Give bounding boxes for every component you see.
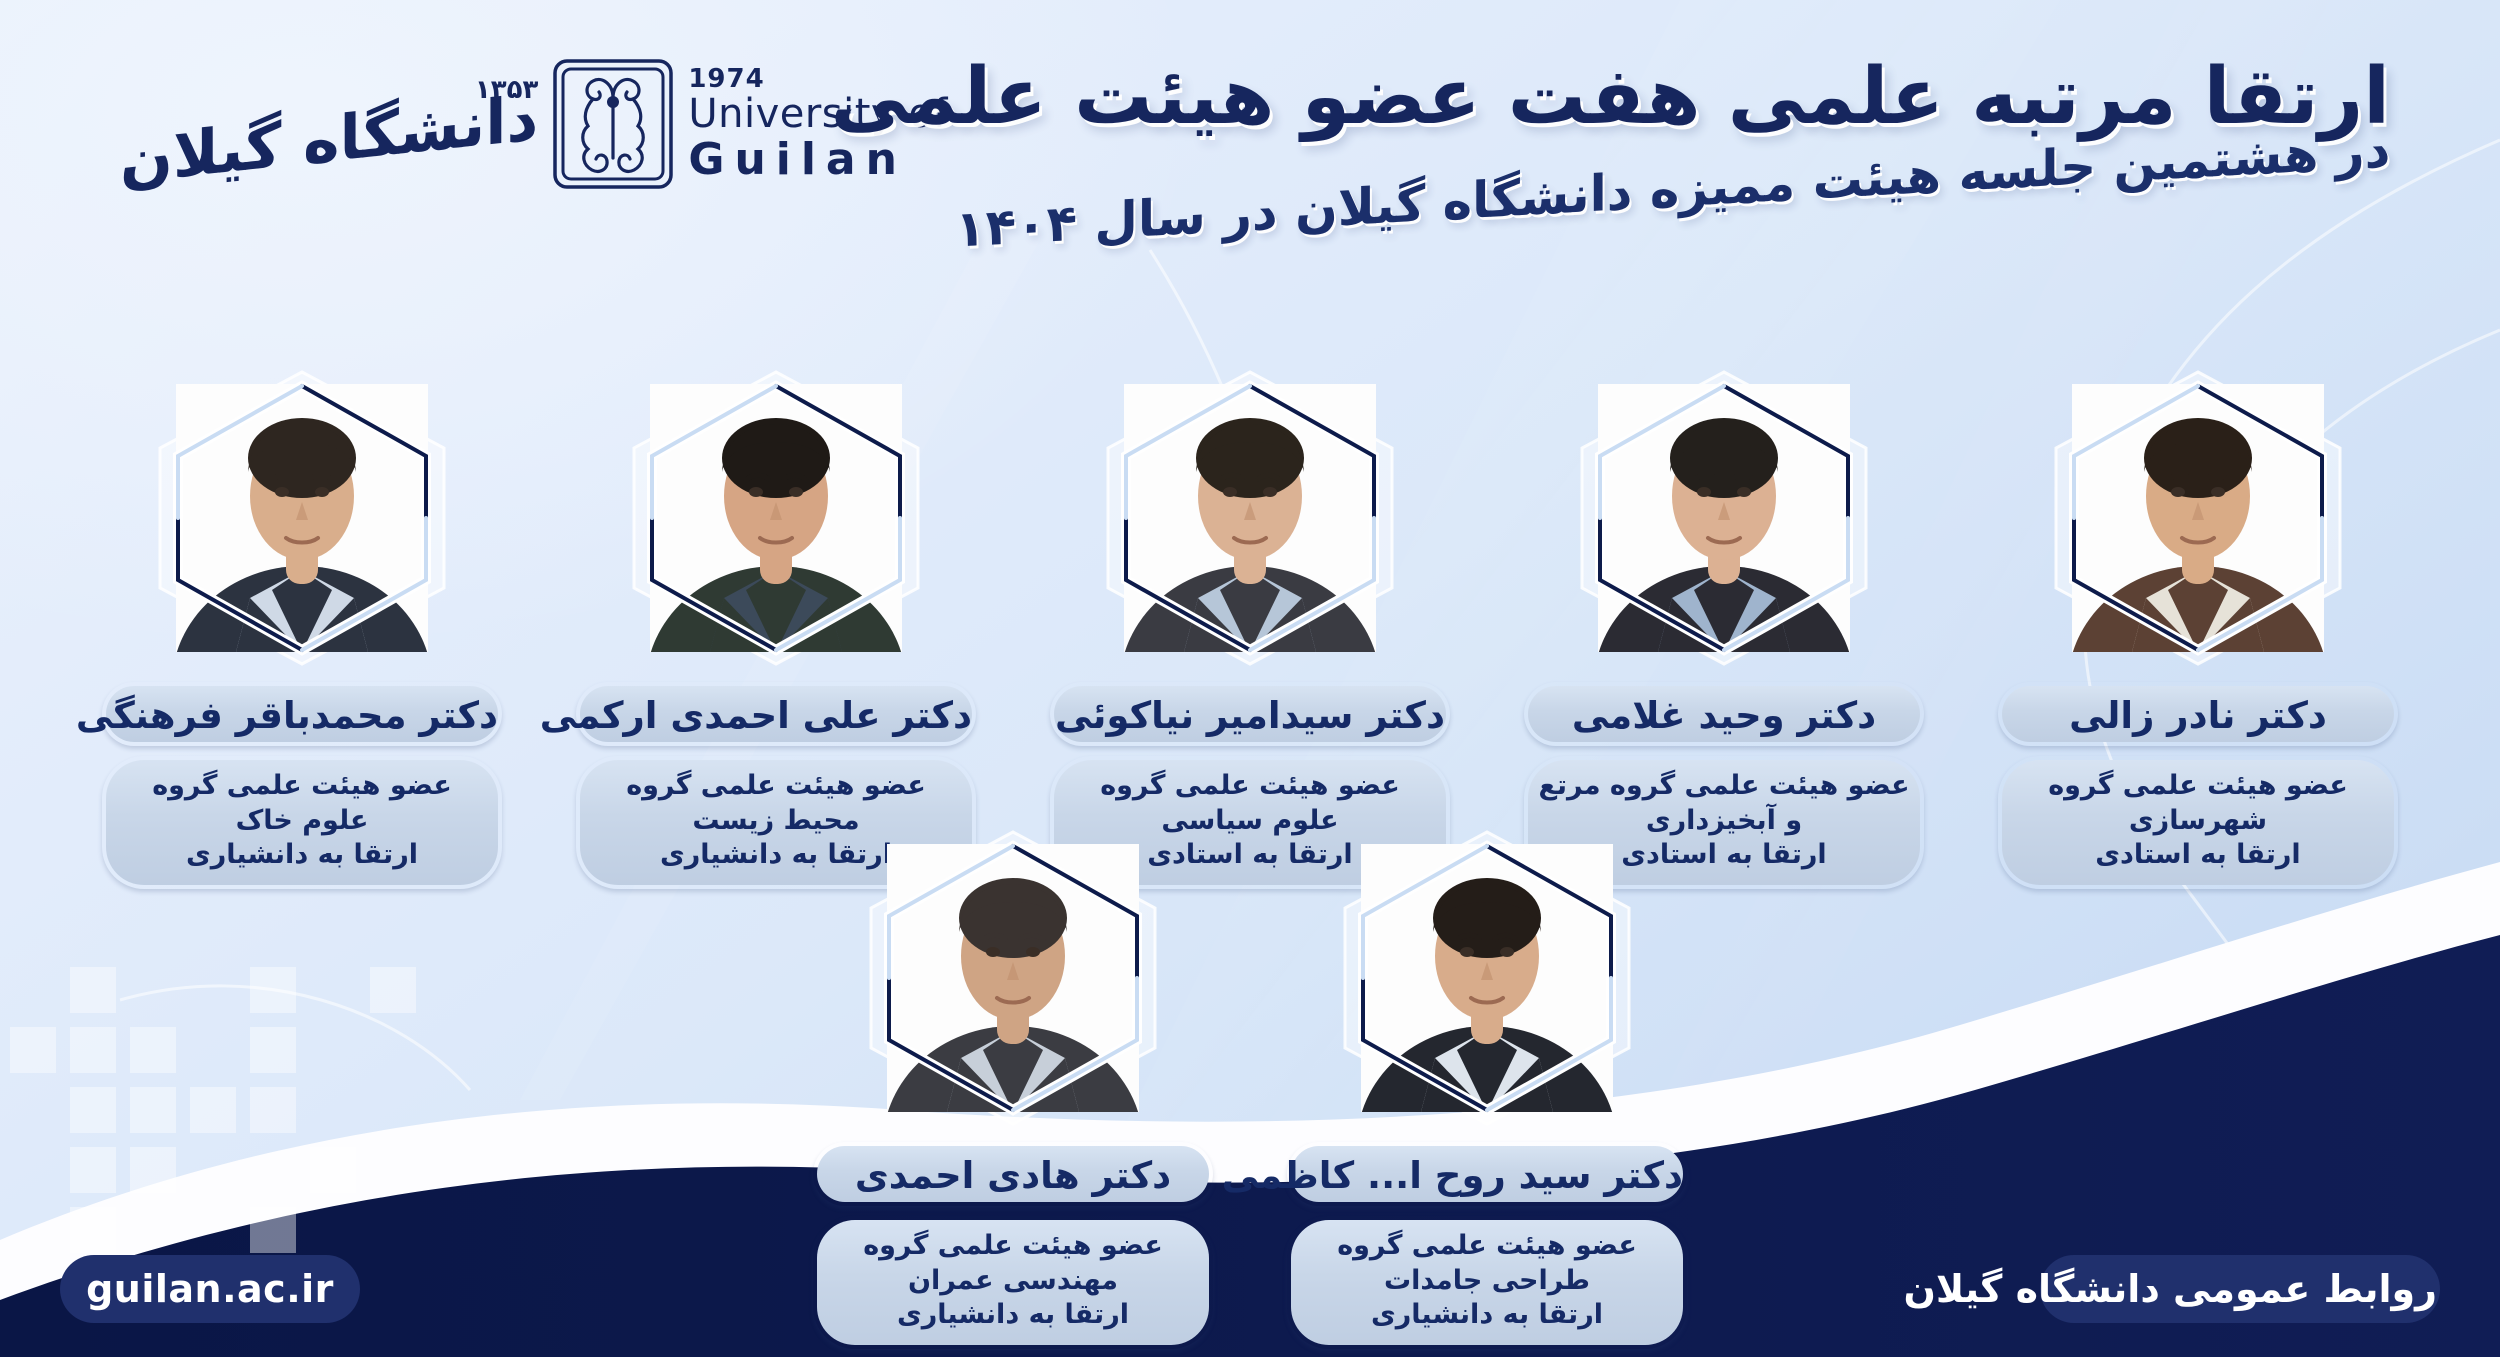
faculty-member-card: دکتر سید روح ا... کاظمی عضو هیئت علمی گر… (1267, 828, 1707, 1349)
faculty-department: عضو هیئت علمی گروه مهندسی عمران (827, 1229, 1199, 1298)
faculty-name-plate: دکتر نادر زالی (1998, 682, 2398, 746)
faculty-member-card: دکتر محمدباقر فرهنگی عضو هیئت علمی گروه … (82, 368, 522, 889)
website-label: guilan.ac.ir (86, 1267, 334, 1311)
faculty-name-plate: دکتر هادی احمدی (813, 1142, 1213, 1206)
portrait-frame (1574, 368, 1874, 668)
faculty-name-plate: دکتر سید روح ا... کاظمی (1287, 1142, 1687, 1206)
faculty-name-plate: دکتر وحید غلامی (1524, 682, 1924, 746)
hexagon-inner-border (1337, 828, 1637, 1128)
portrait-frame (626, 368, 926, 668)
portrait-frame (1337, 828, 1637, 1128)
logo-year-en: 1974 (688, 66, 764, 92)
hexagon-inner-border (626, 368, 926, 668)
hexagon-inner-border (2048, 368, 2348, 668)
faculty-member-card: دکتر نادر زالی عضو هیئت علمی گروه شهرساز… (1978, 368, 2418, 889)
portrait-frame (1100, 368, 1400, 668)
faculty-name: دکتر علی احمدی ارکمی (540, 694, 972, 737)
faculty-name-plate: دکتر سیدامیر نیاکوئی (1050, 682, 1450, 746)
faculty-department: عضو هیئت علمی گروه طراحی جامدات (1301, 1229, 1673, 1298)
faculty-member-card: دکتر وحید غلامی عضو هیئت علمی گروه مرتع … (1504, 368, 1944, 889)
logo-university-name-fa: دانشگاه گیلان (120, 87, 538, 193)
faculty-detail-plate: عضو هیئت علمی گروه طراحی جامدات ارتقا به… (1287, 1216, 1687, 1349)
public-relations-label: روابط عمومی دانشگاه گیلان (1903, 1267, 2437, 1311)
faculty-name-plate: دکتر علی احمدی ارکمی (576, 682, 976, 746)
portrait-frame (863, 828, 1163, 1128)
faculty-promotion: ارتقا به دانشیاری (1301, 1298, 1673, 1333)
faculty-name: دکتر محمدباقر فرهنگی (76, 694, 498, 737)
university-logo: 1974 University of Guilan ۱۳۵۳ دانشگاه گ… (120, 58, 948, 190)
page-title: ارتقا مرتبه علمی هفت عضو هیئت علمی (831, 52, 2390, 142)
website-pill[interactable]: guilan.ac.ir (60, 1255, 360, 1323)
faculty-name: دکتر سیدامیر نیاکوئی (1055, 694, 1445, 737)
faculty-detail-plate: عضو هیئت علمی گروه مهندسی عمران ارتقا به… (813, 1216, 1213, 1349)
guilan-emblem-icon (552, 58, 674, 190)
logo-persian-text: ۱۳۵۳ دانشگاه گیلان (120, 77, 538, 171)
portrait-frame (152, 368, 452, 668)
hexagon-inner-border (1574, 368, 1874, 668)
faculty-member-card: دکتر علی احمدی ارکمی عضو هیئت علمی گروه … (556, 368, 996, 889)
poster-canvas: 1974 University of Guilan ۱۳۵۳ دانشگاه گ… (0, 0, 2500, 1357)
faculty-member-card: دکتر سیدامیر نیاکوئی عضو هیئت علمی گروه … (1030, 368, 1470, 889)
header-titles: ارتقا مرتبه علمی هفت عضو هیئت علمی در هش… (831, 52, 2390, 222)
portrait-frame (2048, 368, 2348, 668)
faculty-name: دکتر هادی احمدی (855, 1154, 1171, 1197)
faculty-promotion: ارتقا به دانشیاری (827, 1298, 1199, 1333)
hexagon-inner-border (1100, 368, 1400, 668)
faculty-name: دکتر نادر زالی (2069, 694, 2327, 737)
public-relations-pill: روابط عمومی دانشگاه گیلان (2040, 1255, 2440, 1323)
faculty-name: دکتر وحید غلامی (1572, 694, 1876, 737)
hexagon-inner-border (152, 368, 452, 668)
faculty-name: دکتر سید روح ا... کاظمی (1222, 1154, 1683, 1197)
hexagon-inner-border (863, 828, 1163, 1128)
faculty-member-card: دکتر هادی احمدی عضو هیئت علمی گروه مهندس… (793, 828, 1233, 1349)
people-row-top: دکتر نادر زالی عضو هیئت علمی گروه شهرساز… (0, 368, 2500, 889)
faculty-name-plate: دکتر محمدباقر فرهنگی (102, 682, 502, 746)
